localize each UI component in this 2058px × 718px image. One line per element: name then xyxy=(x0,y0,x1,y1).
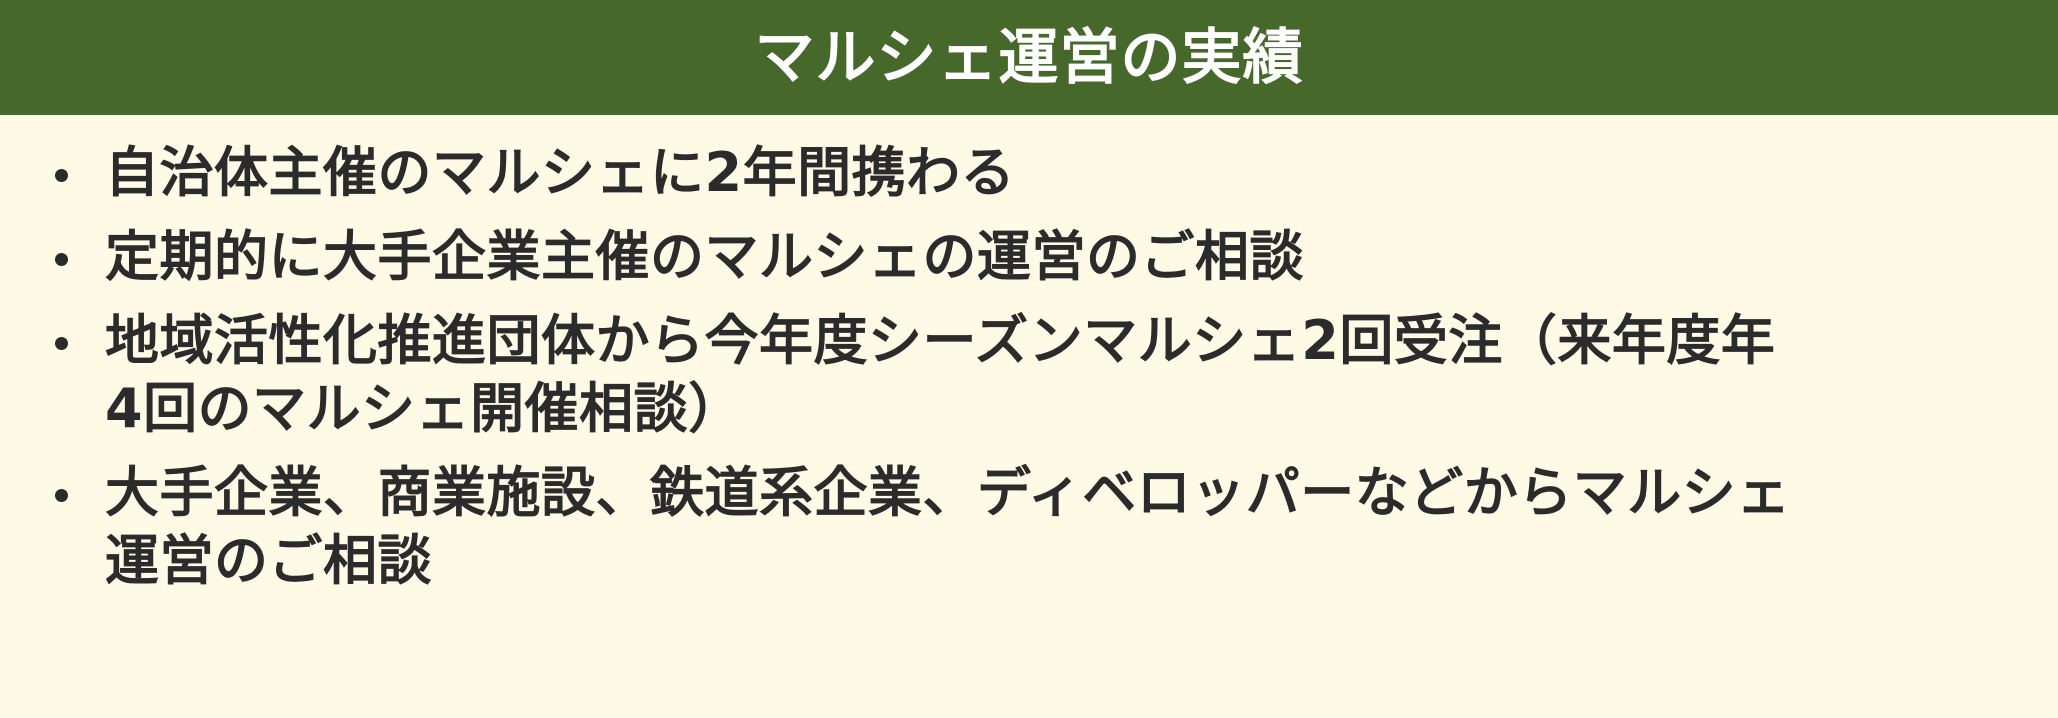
bullet-dot-icon xyxy=(55,337,68,350)
header-bar: マルシェ運営の実績 xyxy=(0,0,2058,115)
list-item-line: 定期的に大手企業主催のマルシェの運営のご相談 xyxy=(105,223,2028,291)
list-item-text: 大手企業、商業施設、鉄道系企業、ディベロッパーなどからマルシェ 運営のご相談 xyxy=(105,459,2028,595)
list-item: 定期的に大手企業主催のマルシェの運営のご相談 xyxy=(30,223,2028,291)
bullet-dot-icon xyxy=(55,253,68,266)
bullet-dot-icon xyxy=(55,489,68,502)
list-item-line: 自治体主催のマルシェに2年間携わる xyxy=(105,139,2028,207)
list-item-text: 定期的に大手企業主催のマルシェの運営のご相談 xyxy=(105,223,2028,291)
list-item-text: 地域活性化推進団体から今年度シーズンマルシェ2回受注（来年度年 4回のマルシェ開… xyxy=(105,307,2028,443)
achievements-list: 自治体主催のマルシェに2年間携わる 定期的に大手企業主催のマルシェの運営のご相談… xyxy=(30,139,2028,595)
list-item-line: 大手企業、商業施設、鉄道系企業、ディベロッパーなどからマルシェ xyxy=(105,459,2028,527)
list-item-text: 自治体主催のマルシェに2年間携わる xyxy=(105,139,2028,207)
list-item-line: 4回のマルシェ開催相談） xyxy=(105,375,2028,443)
content-area: 自治体主催のマルシェに2年間携わる 定期的に大手企業主催のマルシェの運営のご相談… xyxy=(0,115,2058,718)
list-item-line: 地域活性化推進団体から今年度シーズンマルシェ2回受注（来年度年 xyxy=(105,307,2028,375)
list-item: 自治体主催のマルシェに2年間携わる xyxy=(30,139,2028,207)
slide-root: マルシェ運営の実績 自治体主催のマルシェに2年間携わる 定期的に大手企業主催のマ… xyxy=(0,0,2058,718)
list-item: 大手企業、商業施設、鉄道系企業、ディベロッパーなどからマルシェ 運営のご相談 xyxy=(30,459,2028,595)
list-item-line: 運営のご相談 xyxy=(105,527,2028,595)
page-title: マルシェ運営の実績 xyxy=(755,28,1304,88)
list-item: 地域活性化推進団体から今年度シーズンマルシェ2回受注（来年度年 4回のマルシェ開… xyxy=(30,307,2028,443)
bullet-dot-icon xyxy=(55,169,68,182)
